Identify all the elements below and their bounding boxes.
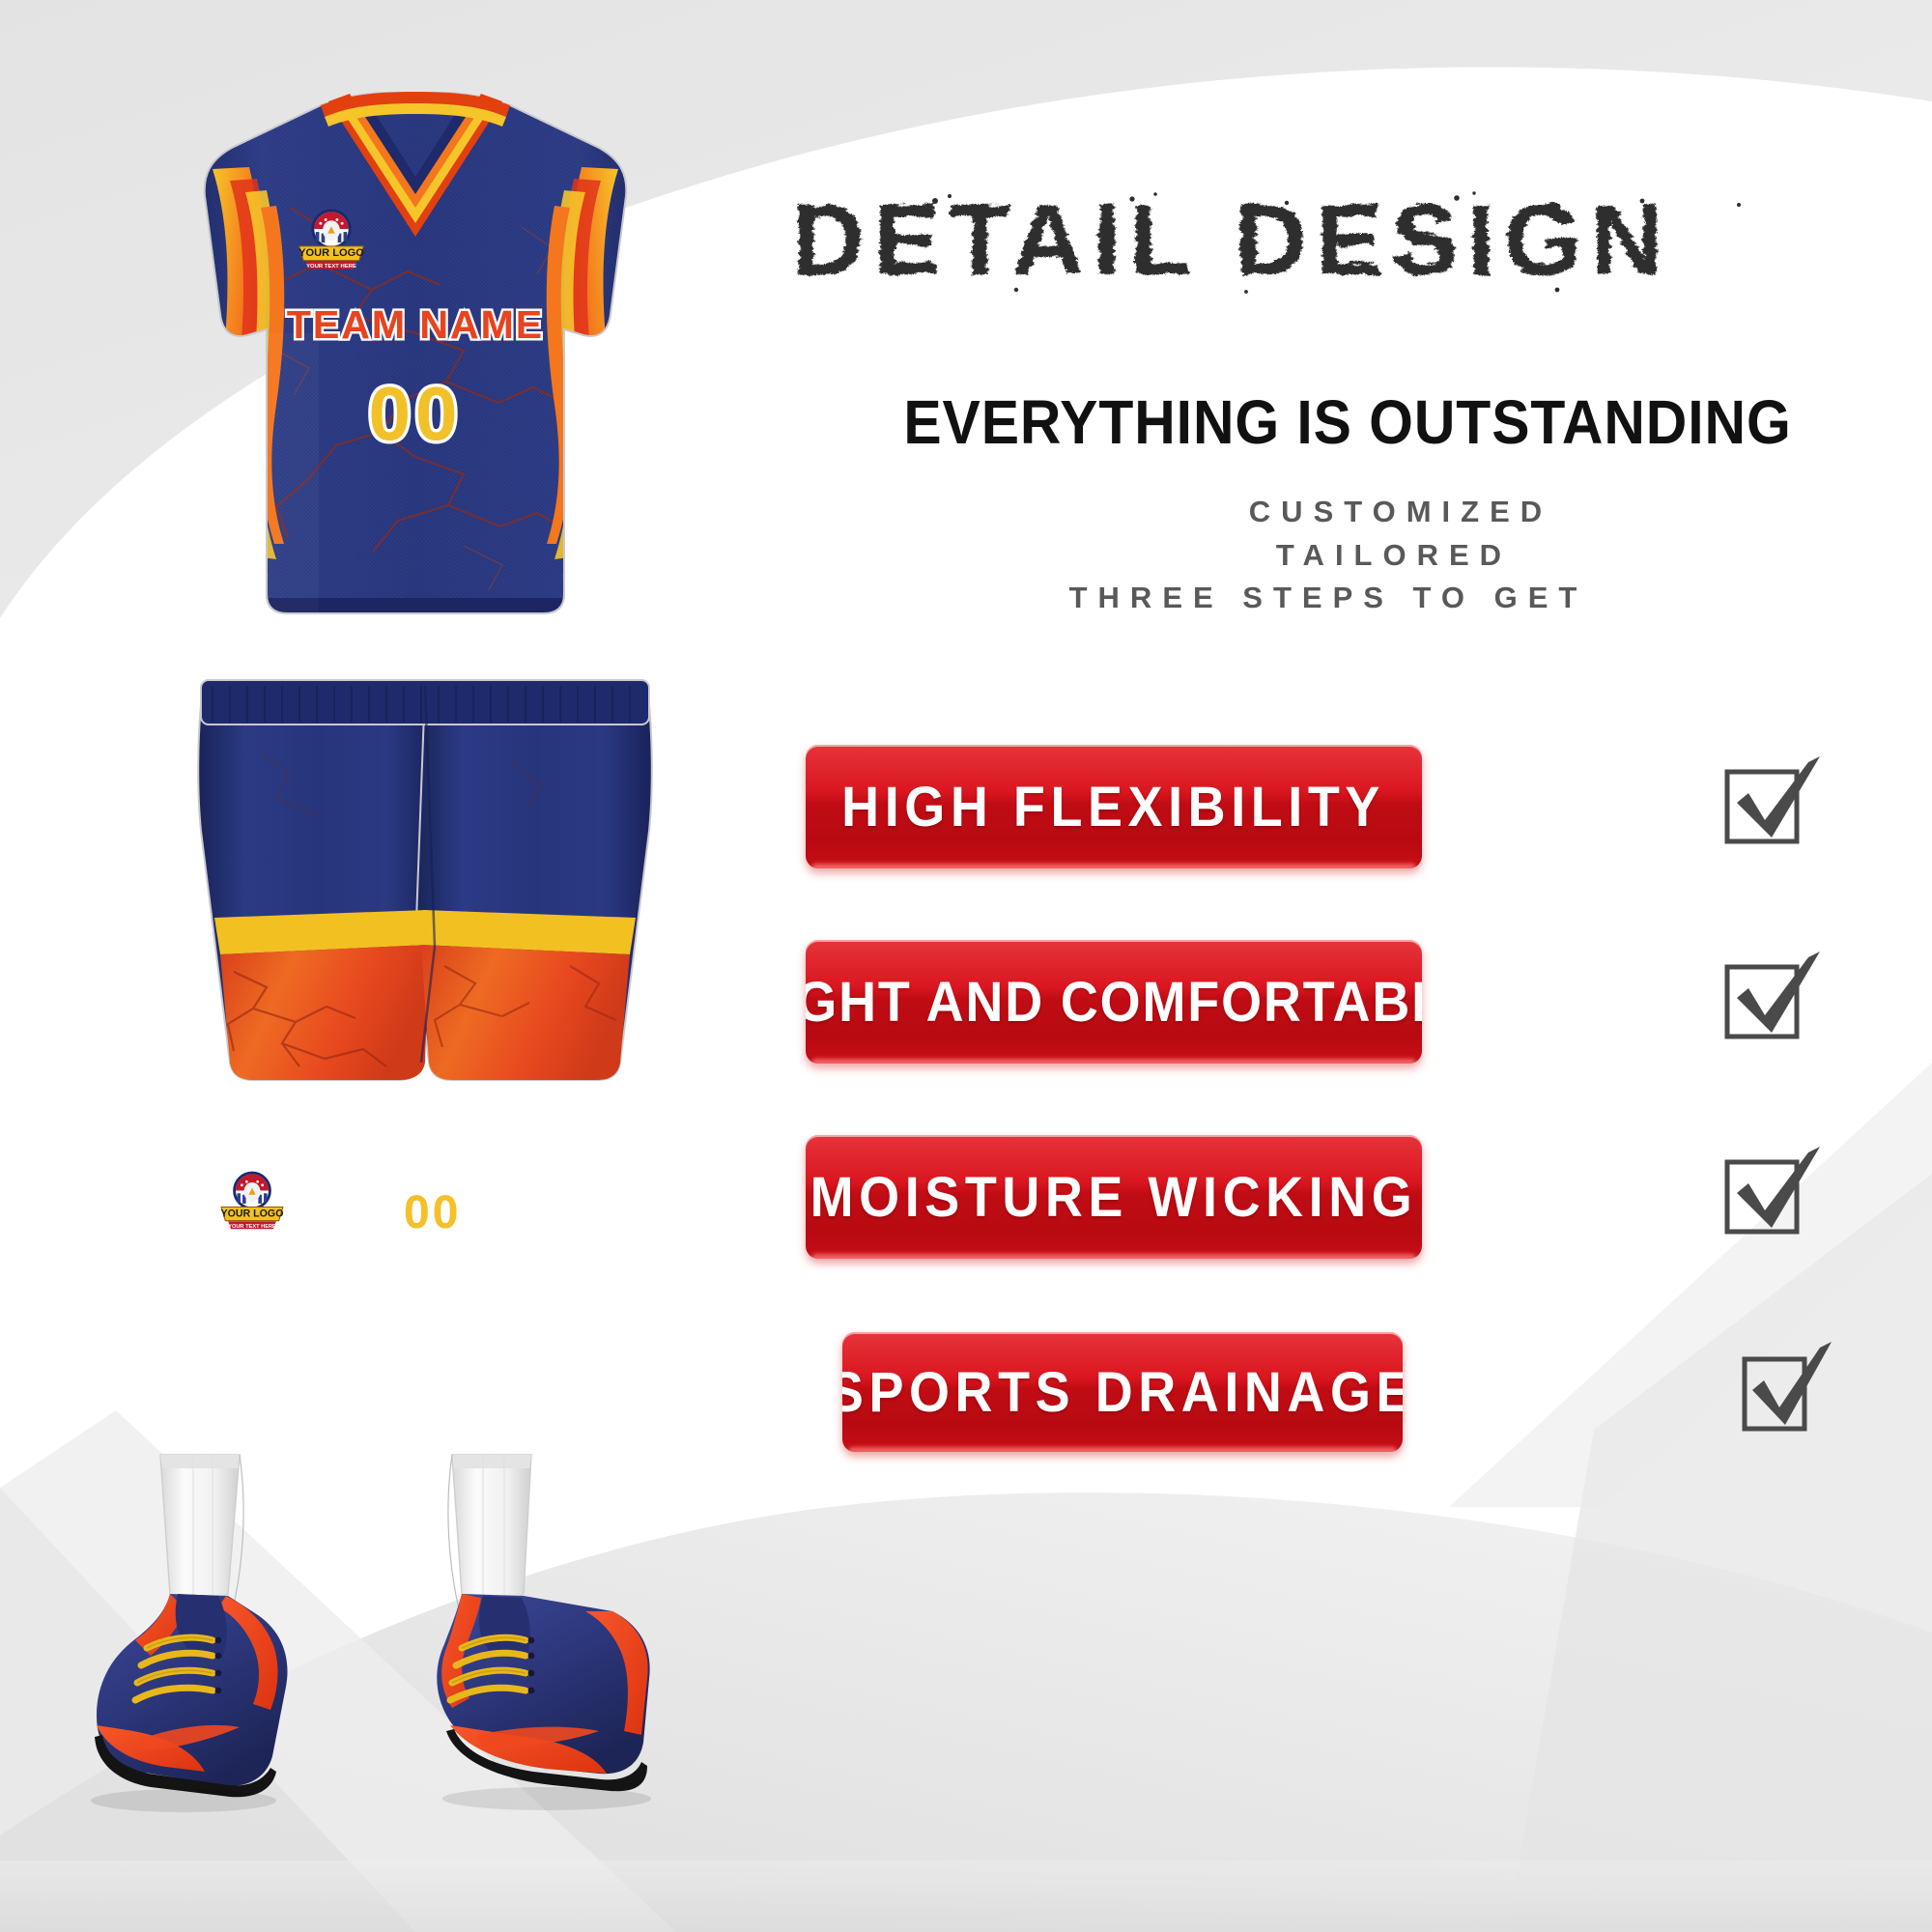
feature-label: MOISTURE WICKING bbox=[810, 1165, 1418, 1230]
subheadline-group: CUSTOMIZED TAILORED THREE STEPS TO GET bbox=[792, 491, 1884, 620]
feature-badge-light-and-comfortable[interactable]: LIGHT AND COMFORTABLE bbox=[806, 940, 1422, 1064]
feature-list: HIGH FLEXIBILITY LIGHT AND COMFORTABLE bbox=[792, 734, 1932, 1515]
content-panel: DETAIL DESIGN EVERYTHING IS OUTSTANDING … bbox=[792, 0, 1932, 1932]
shoes-image bbox=[77, 1449, 676, 1913]
shorts-logo-subtext: YOUR TEXT HERE bbox=[228, 1224, 276, 1230]
subline-tailored: TAILORED bbox=[848, 534, 1932, 578]
checkbox-checked-icon bbox=[1719, 753, 1828, 861]
jersey-logo-label: YOUR LOGO bbox=[298, 247, 364, 259]
page-title: DETAIL DESIGN bbox=[792, 189, 1797, 296]
shorts-logo-label: YOUR LOGO bbox=[221, 1207, 284, 1219]
jersey-logo-subtext: YOUR TEXT HERE bbox=[306, 264, 356, 270]
page-title-text: DETAIL DESIGN bbox=[792, 189, 1672, 296]
feature-label: SPORTS DRAINAGE bbox=[842, 1360, 1403, 1425]
subline-customized: CUSTOMIZED bbox=[855, 491, 1932, 534]
shorts-number: 00 bbox=[404, 1186, 461, 1239]
checkbox-checked-icon bbox=[1719, 948, 1828, 1056]
jersey-logo-badge: YOUR LOGO YOUR TEXT HERE bbox=[292, 205, 371, 270]
shorts-logo-badge: YOUR LOGO YOUR TEXT HERE bbox=[214, 1167, 290, 1231]
feature-label: HIGH FLEXIBILITY bbox=[842, 775, 1386, 839]
feature-row: HIGH FLEXIBILITY bbox=[792, 734, 1932, 879]
headline: EVERYTHING IS OUTSTANDING bbox=[837, 386, 1859, 458]
feature-row: LIGHT AND COMFORTABLE bbox=[792, 929, 1932, 1074]
feature-badge-high-flexibility[interactable]: HIGH FLEXIBILITY bbox=[806, 745, 1422, 868]
jersey-image: TEAM NAME TEAM NAME 00 00 bbox=[174, 92, 657, 729]
feature-badge-moisture-wicking[interactable]: MOISTURE WICKING bbox=[806, 1135, 1422, 1259]
checkbox-checked-icon bbox=[1731, 1338, 1839, 1446]
feature-row: SPORTS DRAINAGE bbox=[792, 1320, 1932, 1464]
subline-three-steps: THREE STEPS TO GET bbox=[782, 577, 1874, 620]
checkbox-checked-icon bbox=[1719, 1143, 1828, 1251]
feature-row: MOISTURE WICKING bbox=[792, 1124, 1932, 1269]
feature-badge-sports-drainage[interactable]: SPORTS DRAINAGE bbox=[842, 1332, 1403, 1452]
feature-label: LIGHT AND COMFORTABLE bbox=[806, 970, 1422, 1035]
product-showcase: TEAM NAME TEAM NAME 00 00 YOUR L bbox=[0, 0, 831, 1932]
